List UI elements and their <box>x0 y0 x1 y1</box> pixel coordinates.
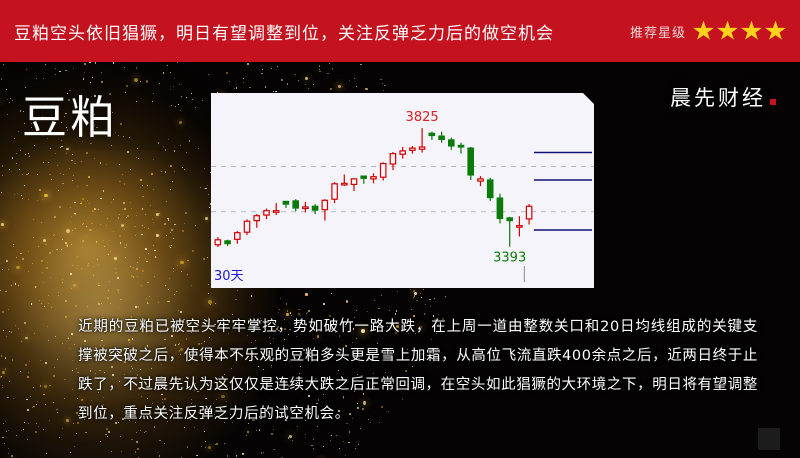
candle <box>478 176 483 186</box>
star-icon <box>693 21 714 42</box>
corner-watermark <box>758 428 780 450</box>
candle <box>419 128 424 152</box>
candle <box>517 216 522 236</box>
header-bar: 豆粕空头依旧猖獗，明日有望调整到位，关注反弹乏力后的做空机会 推荐星级 <box>0 0 800 62</box>
star-rating <box>693 21 786 42</box>
candle <box>264 209 269 220</box>
candle <box>429 132 434 140</box>
candlestick-chart: 3825339330天 <box>211 93 594 288</box>
candle <box>303 202 308 212</box>
brand-logo: 晨先财经 <box>670 82 776 112</box>
brand-name: 晨先财经 <box>670 82 766 112</box>
candle <box>332 182 337 203</box>
headline-text: 豆粕空头依旧猖獗，明日有望调整到位，关注反弹乏力后的做空机会 <box>14 19 554 44</box>
candle <box>468 147 473 180</box>
candle <box>235 231 240 244</box>
candle <box>488 178 493 201</box>
page-title: 豆粕 <box>22 95 118 140</box>
candle <box>254 214 259 228</box>
candle <box>322 199 327 220</box>
candle <box>410 146 415 154</box>
rating-group: 推荐星级 <box>630 0 786 62</box>
poster-root: 豆粕空头依旧猖獗，明日有望调整到位，关注反弹乏力后的做空机会 推荐星级 豆粕 晨… <box>0 0 800 458</box>
brand-dot-icon <box>770 99 776 105</box>
chart-period-label: 30天 <box>214 269 244 284</box>
candle <box>381 162 386 180</box>
candlestick-chart-panel: 3825339330天 <box>211 93 594 288</box>
candle <box>293 199 298 211</box>
candle <box>526 204 531 224</box>
candle <box>342 175 347 187</box>
rating-label: 推荐星级 <box>630 22 686 41</box>
candle <box>312 204 317 214</box>
candle <box>449 138 454 150</box>
candle <box>371 173 376 183</box>
candle <box>283 201 288 208</box>
candle <box>274 203 279 215</box>
candle <box>497 194 502 224</box>
star-icon <box>765 21 786 42</box>
candle <box>244 220 249 235</box>
candle <box>400 147 405 159</box>
chart-low-annotation: 3393 <box>493 251 526 266</box>
chart-high-annotation: 3825 <box>406 110 439 125</box>
star-icon <box>717 21 738 42</box>
article-body: 近期的豆粕已被空头牢牢掌控，势如破竹一路大跌，在上周一道由整数关口和20日均线组… <box>78 313 758 429</box>
star-icon <box>741 21 762 42</box>
article-paragraph: 近期的豆粕已被空头牢牢掌控，势如破竹一路大跌，在上周一道由整数关口和20日均线组… <box>78 313 758 429</box>
candle <box>439 132 444 143</box>
candle <box>225 240 230 246</box>
candle <box>458 143 463 154</box>
candle <box>390 152 395 170</box>
candle <box>361 176 366 184</box>
candle <box>507 217 512 247</box>
candle <box>351 178 356 191</box>
candle <box>215 237 220 247</box>
